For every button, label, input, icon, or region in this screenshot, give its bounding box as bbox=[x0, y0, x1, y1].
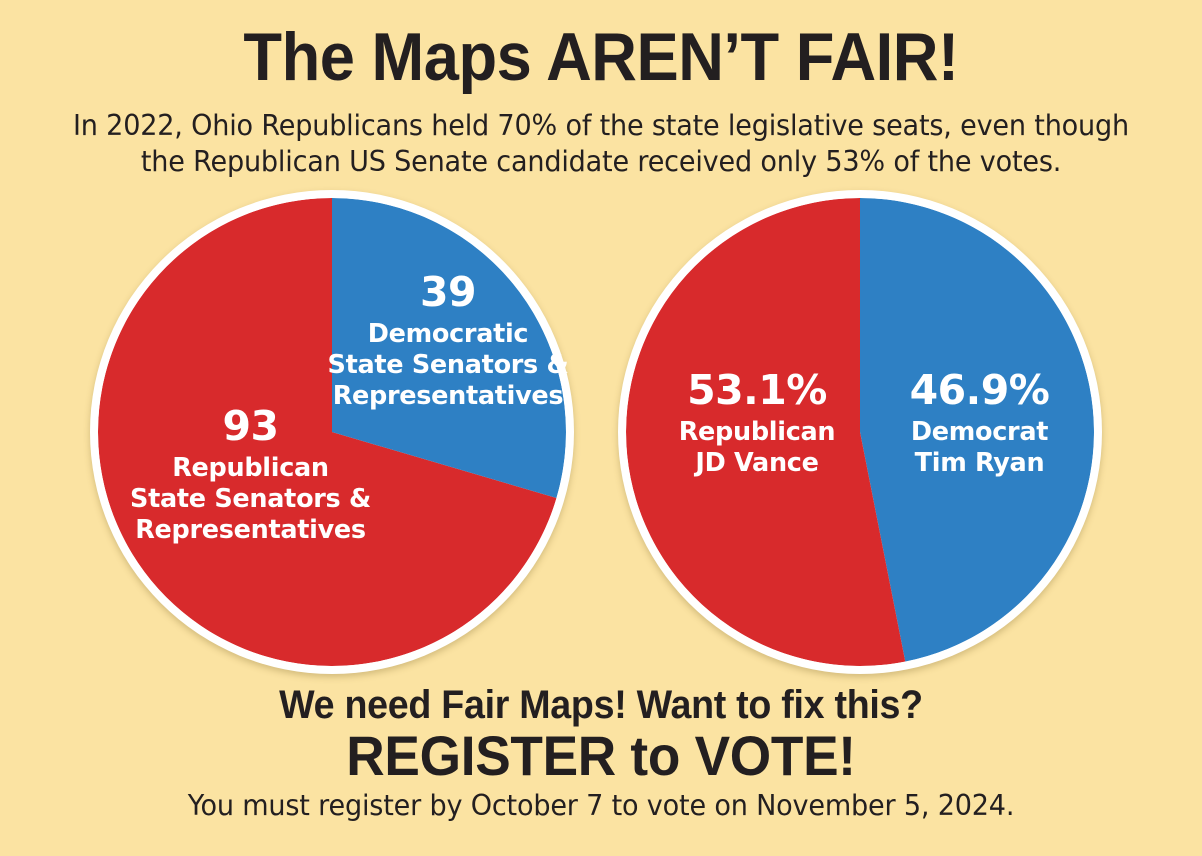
subtitle-line-2: the Republican US Senate candidate recei… bbox=[47, 144, 1155, 180]
pie-chart-senate-vote bbox=[618, 190, 1102, 674]
call-to-action-line-1: We need Fair Maps! Want to fix this? bbox=[36, 682, 1166, 728]
pie-disc-senate-vote bbox=[626, 198, 1094, 666]
subtitle-line-1: In 2022, Ohio Republicans held 70% of th… bbox=[47, 108, 1155, 144]
subtitle: In 2022, Ohio Republicans held 70% of th… bbox=[47, 108, 1155, 180]
pie-slice-democrat-vance-ryan bbox=[860, 198, 1094, 662]
infographic-poster: The Maps AREN’T FAIR! In 2022, Ohio Repu… bbox=[0, 0, 1202, 856]
pie-disc-legislature bbox=[98, 198, 566, 666]
pie-chart-legislature-seats bbox=[90, 190, 574, 674]
registration-deadline: You must register by October 7 to vote o… bbox=[30, 788, 1172, 824]
page-title: The Maps AREN’T FAIR! bbox=[42, 18, 1160, 96]
call-to-action-register: REGISTER to VOTE! bbox=[30, 724, 1172, 788]
